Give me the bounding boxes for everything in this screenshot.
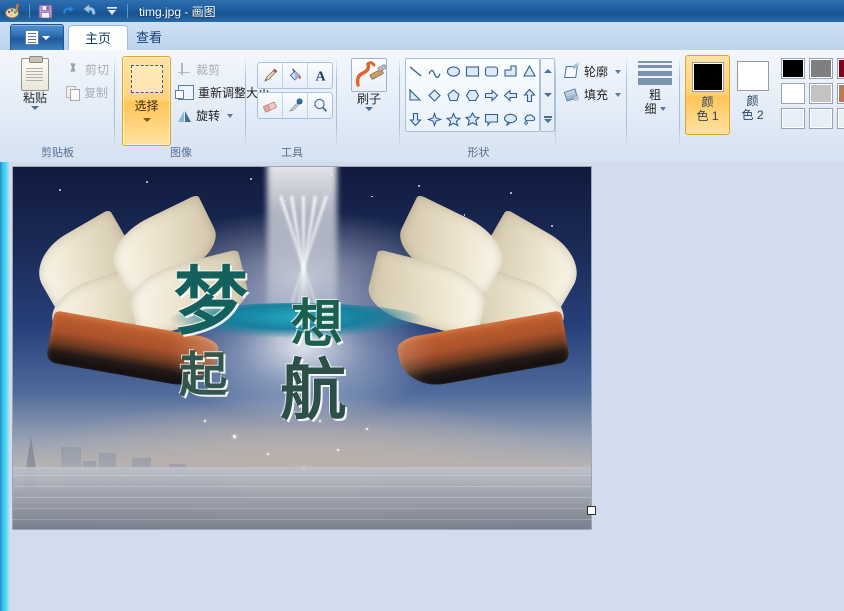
select-button[interactable]: 选择 <box>122 56 171 146</box>
text-tool-icon[interactable]: A <box>308 63 332 88</box>
color-2-label-line2: 色 2 <box>741 108 763 122</box>
qat-divider <box>29 4 30 18</box>
paste-label: 粘贴 <box>23 92 47 105</box>
chevron-down-icon <box>544 93 552 97</box>
group-divider <box>114 56 115 148</box>
color-1-label-line2: 色 1 <box>696 109 718 123</box>
artwork-char-meng: 梦 <box>174 265 248 339</box>
shape-line-icon[interactable] <box>406 59 425 83</box>
rotate-button[interactable]: 旋转 <box>178 106 233 125</box>
undo-icon[interactable] <box>58 2 77 21</box>
shape-right-triangle-icon[interactable] <box>406 83 425 107</box>
select-label: 选择 <box>134 97 158 114</box>
ribbon-group-tools: A <box>247 50 337 162</box>
line-thickness-icon <box>637 58 673 88</box>
scissors-icon <box>66 62 81 77</box>
tab-home[interactable]: 主页 <box>68 25 128 52</box>
shape-hexagon-icon[interactable] <box>463 83 482 107</box>
file-menu-button[interactable] <box>10 24 64 51</box>
rotate-icon <box>178 109 192 123</box>
shape-pentagon-icon[interactable] <box>444 83 463 107</box>
tools-row-2 <box>257 92 333 119</box>
crop-label: 裁剪 <box>196 61 220 78</box>
paint-app-icon[interactable] <box>4 2 23 21</box>
chevron-down-icon <box>42 36 50 40</box>
brushes-label: 刷子 <box>357 93 381 106</box>
shape-rounded-rectangle-icon[interactable] <box>482 59 501 83</box>
shape-rectangle-icon[interactable] <box>463 59 482 83</box>
scroll-down-button[interactable] <box>542 84 553 106</box>
shape-six-point-star-icon[interactable] <box>463 107 482 131</box>
size-label-line1: 粗 <box>649 89 661 102</box>
shape-rectangular-callout-icon[interactable] <box>482 107 501 131</box>
copy-icon <box>66 86 80 100</box>
redo-icon <box>80 2 99 21</box>
title-bar: timg.jpg - 画图 <box>0 0 844 23</box>
shape-gallery-scrollbar[interactable] <box>540 58 555 132</box>
group-label-tools: 工具 <box>247 144 337 160</box>
color-2-button[interactable]: 颜 色 2 <box>731 55 774 133</box>
group-label-image: 图像 <box>116 144 246 160</box>
ribbon-group-clipboard: 粘贴 剪切 复制 剪贴板 <box>0 50 115 162</box>
customize-qat-icon[interactable] <box>102 2 121 21</box>
ribbon-group-shapes: 形状 <box>401 50 556 162</box>
chevron-down-icon[interactable] <box>227 114 233 118</box>
palette-swatch[interactable] <box>781 58 805 79</box>
fill-label: 填充 <box>584 86 608 103</box>
shape-right-arrow-icon[interactable] <box>482 83 501 107</box>
quick-access-toolbar <box>0 1 131 21</box>
outline-button[interactable]: 轮廓 <box>565 62 621 81</box>
shape-oval-icon[interactable] <box>444 59 463 83</box>
selection-marquee-icon <box>131 65 163 93</box>
artwork-char-hang: 航 <box>280 358 346 424</box>
ribbon-group-brushes: 刷子 <box>338 50 400 162</box>
shape-four-point-star-icon[interactable] <box>425 107 444 131</box>
crop-icon <box>178 63 192 77</box>
fill-button[interactable]: 填充 <box>565 85 621 104</box>
copy-button[interactable]: 复制 <box>66 83 108 102</box>
magnifier-tool-icon[interactable] <box>308 93 332 118</box>
resize-icon <box>178 85 194 100</box>
shape-gallery <box>405 58 540 132</box>
palette-swatch[interactable] <box>781 83 805 104</box>
shape-down-arrow-icon[interactable] <box>406 107 425 131</box>
group-divider <box>626 56 627 148</box>
pencil-tool-icon[interactable] <box>258 63 283 88</box>
clipboard-icon <box>21 58 49 91</box>
palette-swatch-empty[interactable] <box>781 108 805 129</box>
file-menu-icon <box>25 30 39 45</box>
cut-label: 剪切 <box>85 61 109 78</box>
group-label-shapes: 形状 <box>401 144 556 160</box>
shape-oval-callout-icon[interactable] <box>501 107 520 131</box>
size-label-line2: 细 <box>644 103 656 116</box>
artwork-char-xiang: 想 <box>291 299 343 351</box>
group-divider <box>679 56 680 148</box>
group-divider <box>245 56 246 148</box>
chevron-down-icon[interactable] <box>615 70 621 74</box>
tab-view[interactable]: 查看 <box>120 25 178 50</box>
paint-window: timg.jpg - 画图 主页 查看 粘贴 剪切 复制 <box>0 0 844 611</box>
shape-cloud-callout-icon[interactable] <box>520 107 539 131</box>
shape-diamond-icon[interactable] <box>425 83 444 107</box>
eraser-tool-icon[interactable] <box>258 93 283 118</box>
artwork-char-qi: 起 <box>179 351 227 399</box>
expand-gallery-button[interactable] <box>542 108 553 130</box>
copy-label: 复制 <box>84 84 108 101</box>
fill-tool-icon[interactable] <box>283 63 308 88</box>
color-picker-tool-icon[interactable] <box>283 93 308 118</box>
rotate-label: 旋转 <box>196 107 220 124</box>
ribbon-group-size: 粗 细 <box>628 50 680 162</box>
chevron-up-icon <box>544 69 552 73</box>
group-divider <box>555 56 556 148</box>
brush-icon <box>351 58 387 92</box>
ribbon-group-outline-fill: 轮廓 填充 <box>557 50 627 162</box>
palette-swatch-empty[interactable] <box>809 108 833 129</box>
scroll-up-button[interactable] <box>542 60 553 82</box>
ribbon: 粘贴 剪切 复制 剪贴板 选择 裁剪 <box>0 50 844 163</box>
shape-polygon-icon[interactable] <box>501 59 520 83</box>
group-divider <box>336 56 337 148</box>
chevron-down-icon[interactable] <box>615 93 621 97</box>
svg-text:A: A <box>315 70 326 85</box>
group-label-clipboard: 剪贴板 <box>0 144 115 160</box>
fill-bucket-icon <box>565 88 580 102</box>
color-1-button[interactable]: 颜 色 1 <box>685 55 730 135</box>
palette-swatch[interactable] <box>809 58 833 79</box>
color-2-label-line1: 颜 <box>746 94 758 108</box>
more-icon <box>544 116 552 122</box>
group-divider <box>399 56 400 148</box>
palette-swatch-empty[interactable] <box>837 108 844 129</box>
crop-button[interactable]: 裁剪 <box>178 60 220 79</box>
color-1-swatch <box>692 62 724 92</box>
water-surface <box>13 467 591 529</box>
window-title: timg.jpg - 画图 <box>139 3 216 20</box>
qat-divider-2 <box>127 4 128 18</box>
color-2-swatch <box>737 61 769 91</box>
chevron-down-icon[interactable] <box>143 118 151 122</box>
ribbon-tab-strip: 主页 查看 <box>0 22 844 51</box>
shape-five-point-star-icon[interactable] <box>444 107 463 131</box>
outline-icon <box>565 65 580 79</box>
ribbon-group-colors: 颜 色 1 颜 色 2 <box>681 50 844 162</box>
ribbon-group-image: 选择 裁剪 重新调整大小 旋转 图像 <box>116 50 246 162</box>
shape-left-arrow-icon[interactable] <box>501 83 520 107</box>
brushes-button[interactable]: 刷子 <box>348 58 390 111</box>
tools-row-1: A <box>257 62 333 89</box>
canvas-area[interactable]: 梦 想 起 航 <box>12 166 590 528</box>
chevron-down-icon[interactable] <box>365 107 373 111</box>
outline-label: 轮廓 <box>584 63 608 80</box>
size-button[interactable]: 粗 细 <box>634 58 676 116</box>
canvas-workspace[interactable]: 梦 想 起 航 <box>0 162 844 611</box>
selection-handle-right[interactable] <box>587 506 596 515</box>
paste-button[interactable]: 粘贴 <box>10 58 60 110</box>
palette-swatch[interactable] <box>809 83 833 104</box>
chevron-down-icon[interactable] <box>31 106 39 110</box>
cut-button[interactable]: 剪切 <box>66 60 109 79</box>
chevron-down-icon[interactable] <box>660 107 666 111</box>
save-icon[interactable] <box>36 2 55 21</box>
color-palette <box>780 57 844 132</box>
palette-swatch[interactable] <box>837 83 844 104</box>
shape-up-arrow-icon[interactable] <box>520 83 539 107</box>
color-1-label-line1: 颜 <box>701 95 713 109</box>
shape-curve-icon[interactable] <box>425 59 444 83</box>
palette-swatch[interactable] <box>837 58 844 79</box>
shape-triangle-icon[interactable] <box>520 59 539 83</box>
artwork-title-text: 梦 想 起 航 <box>163 261 429 435</box>
window-left-edge <box>0 162 10 611</box>
image-canvas[interactable]: 梦 想 起 航 <box>12 166 592 530</box>
